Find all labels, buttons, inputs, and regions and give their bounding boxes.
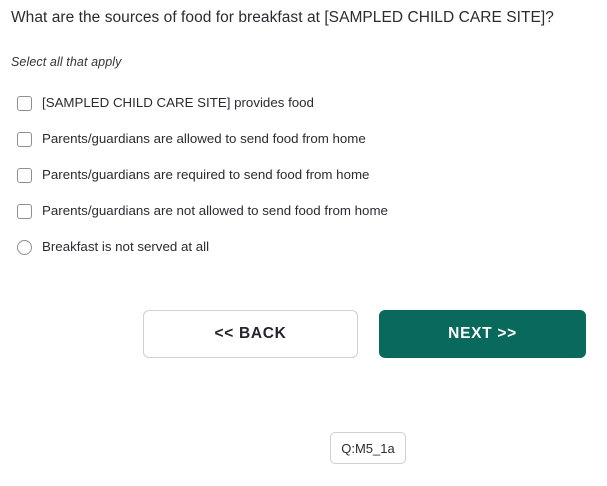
navigation-buttons: << BACK NEXT >>	[0, 310, 607, 358]
option-row[interactable]: [SAMPLED CHILD CARE SITE] provides food	[0, 92, 607, 114]
checkbox-icon[interactable]	[17, 96, 32, 111]
checkbox-icon[interactable]	[17, 168, 32, 183]
page-title: What are the sources of food for breakfa…	[11, 8, 601, 28]
back-button[interactable]: << BACK	[143, 310, 358, 358]
option-label: Breakfast is not served at all	[42, 238, 209, 256]
option-label: Parents/guardians are allowed to send fo…	[42, 130, 366, 148]
answer-options-list: [SAMPLED CHILD CARE SITE] provides foodP…	[0, 92, 607, 272]
option-row[interactable]: Parents/guardians are not allowed to sen…	[0, 200, 607, 222]
checkbox-icon[interactable]	[17, 132, 32, 147]
option-label: Parents/guardians are required to send f…	[42, 166, 369, 184]
option-label: Parents/guardians are not allowed to sen…	[42, 202, 388, 220]
radio-icon[interactable]	[17, 240, 32, 255]
option-row[interactable]: Parents/guardians are required to send f…	[0, 164, 607, 186]
select-all-instruction: Select all that apply	[11, 55, 122, 69]
option-row[interactable]: Breakfast is not served at all	[0, 236, 607, 258]
survey-question-page: What are the sources of food for breakfa…	[0, 0, 607, 486]
next-button[interactable]: NEXT >>	[379, 310, 586, 358]
option-label: [SAMPLED CHILD CARE SITE] provides food	[42, 94, 314, 112]
checkbox-icon[interactable]	[17, 204, 32, 219]
option-row[interactable]: Parents/guardians are allowed to send fo…	[0, 128, 607, 150]
question-id-badge: Q:M5_1a	[330, 432, 406, 464]
